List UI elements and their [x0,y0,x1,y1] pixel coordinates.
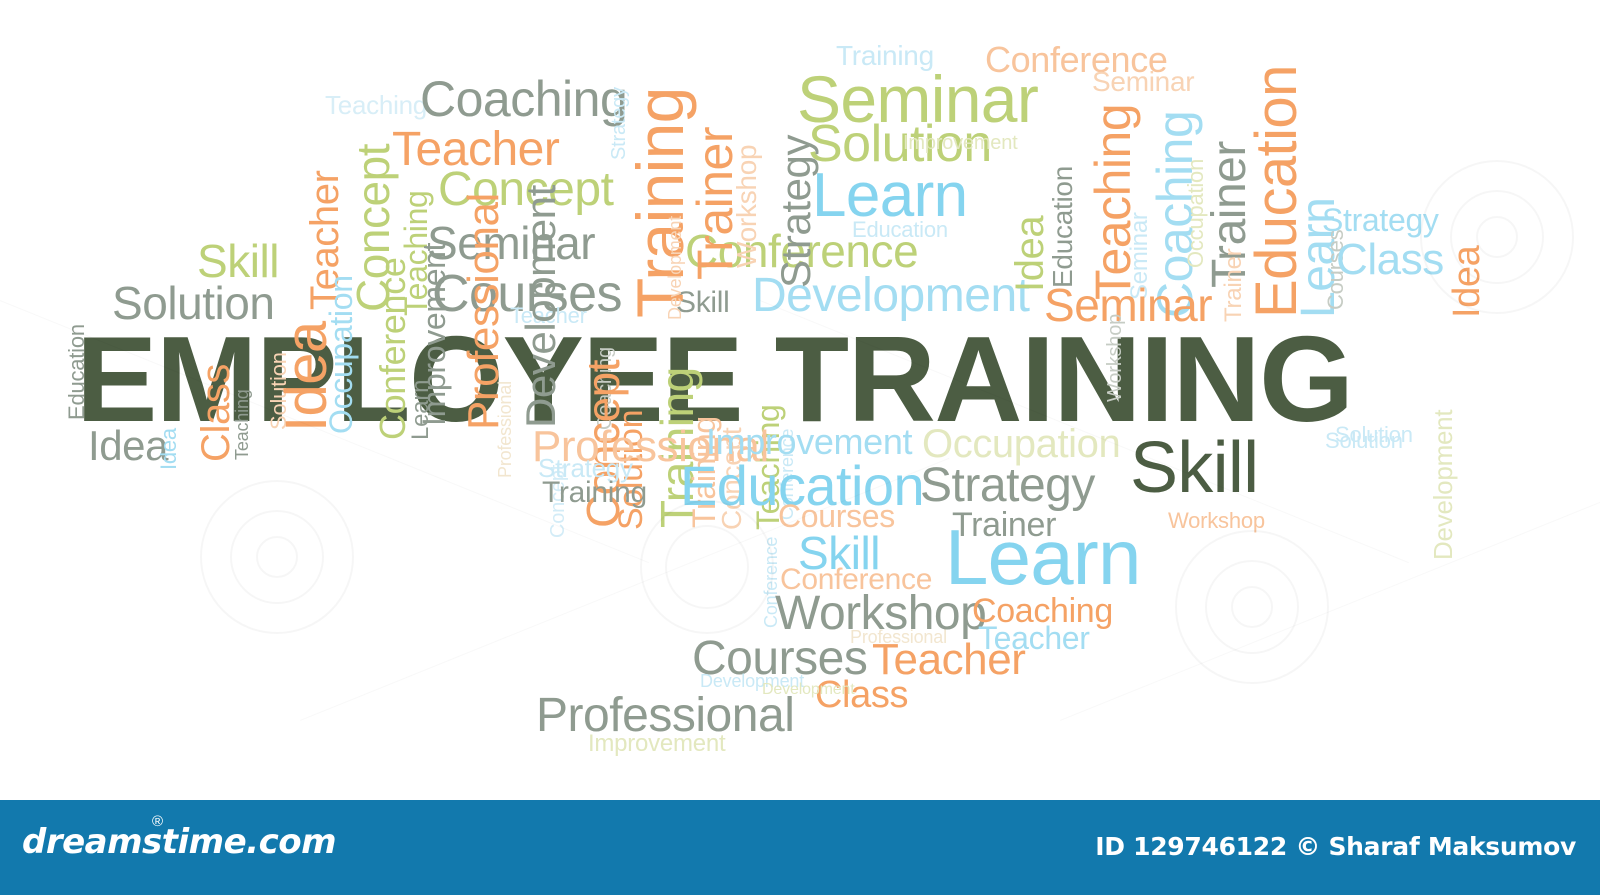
word-cloud-term: Seminar [1044,282,1212,328]
word-cloud-term: Improvement [903,133,1018,153]
word-cloud-term: Seminar [427,220,595,266]
word-cloud-term: Skill [1130,432,1258,504]
image-credit-text: ID 129746122 © Sharaf Maksumov [1095,832,1576,861]
word-cloud-term: Occupation [325,275,357,434]
word-cloud-term: Development [1430,410,1456,560]
word-cloud-term: Training [542,478,647,508]
word-cloud-term: Professional [496,381,514,478]
word-cloud-term: Workshop [1105,314,1125,402]
word-cloud-term: Teaching [325,92,427,118]
word-cloud-term: Solution [112,280,275,326]
registered-trademark-icon: ® [152,813,163,830]
word-cloud-term: Strategy [1322,204,1439,236]
word-cloud-term: Strategy [775,135,817,288]
word-cloud-term: Professional [850,628,947,646]
word-cloud-term: Solution [1335,424,1413,446]
word-cloud-term: Coaching [420,74,627,124]
stock-footer-bar: dreamstime.com ® ID 129746122 © Sharaf M… [0,800,1600,895]
word-cloud-term: Improvement [588,732,725,756]
word-cloud-term: Education [66,324,88,420]
word-cloud-term: Seminar [1092,68,1194,96]
word-cloud-term: Trainer [1222,249,1246,322]
word-cloud-term: Education [852,219,948,241]
word-cloud-term: Class [196,364,236,462]
word-cloud-term: Education [1049,166,1077,288]
word-cloud-term: Development [666,216,684,320]
word-cloud-term: Learn [945,518,1141,596]
word-cloud-term: Conference [375,257,411,440]
word-cloud-term: Occupation [922,424,1120,464]
dreamstime-logo[interactable]: dreamstime.com [22,822,336,862]
word-cloud-term: Idea [1448,246,1486,318]
word-cloud-term: Workshop [1168,510,1265,532]
word-cloud-term: Development [520,185,562,428]
word-cloud-term: Workshop [733,145,761,268]
word-cloud-image: EMPLOYEE TRAININGTeachingCoachingTrainin… [0,0,1600,895]
word-cloud-term: Idea [158,428,180,470]
word-cloud-canvas: EMPLOYEE TRAININGTeachingCoachingTrainin… [0,0,1600,800]
word-cloud-term: Teaching [233,389,251,460]
word-cloud-term: Class [1336,238,1444,282]
word-cloud-term: Improvement [418,243,450,426]
word-cloud-term: Development [762,682,855,698]
word-cloud-term: Strategy [920,462,1095,510]
